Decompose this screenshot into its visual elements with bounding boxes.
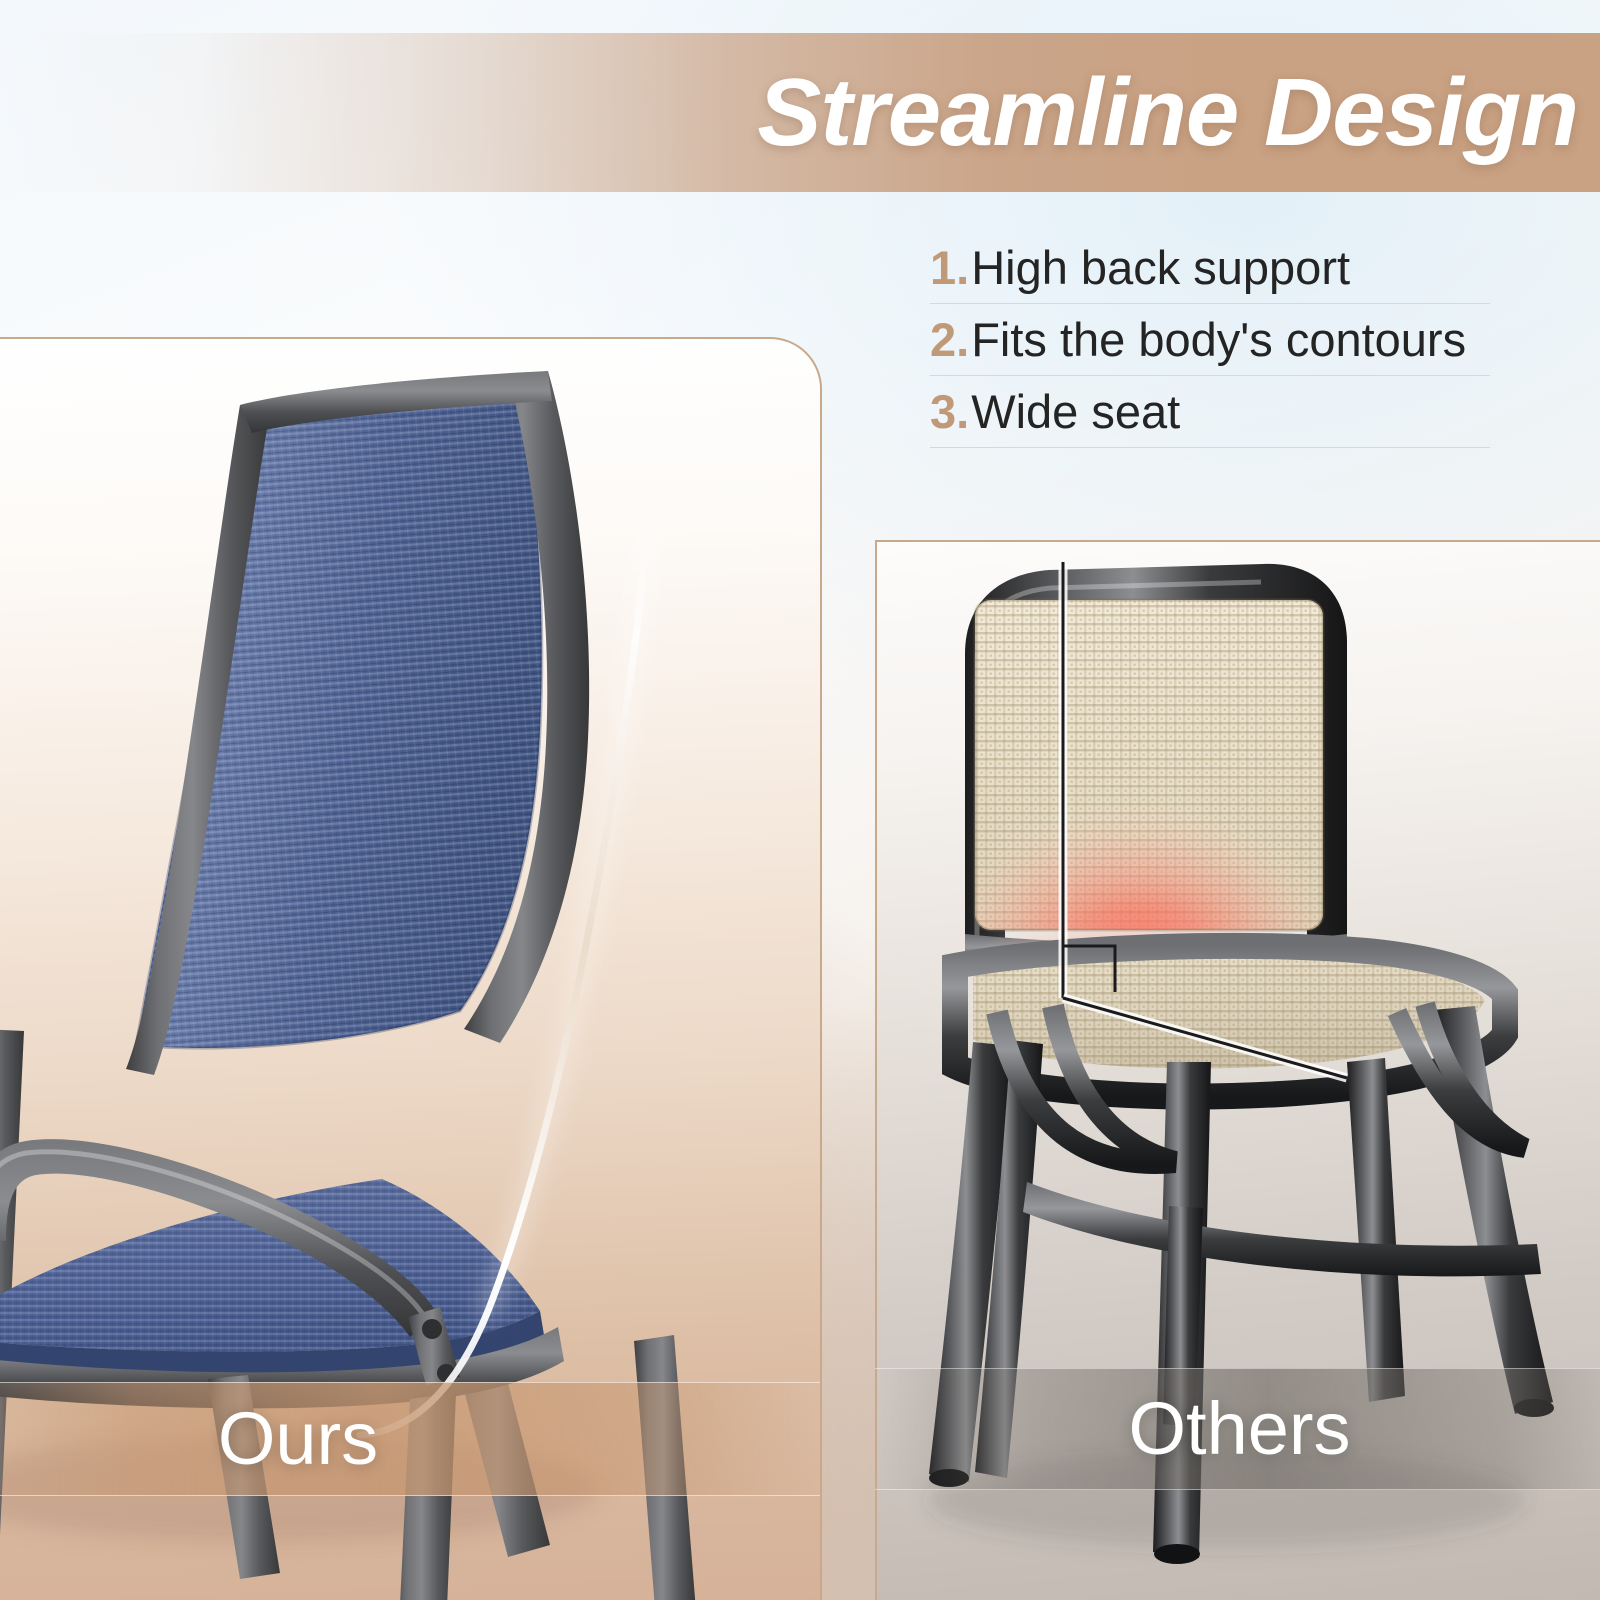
others-stretcher-horizontal [1023,1182,1541,1276]
label-band-others: Others [875,1368,1600,1490]
panel-label-others: Others [1128,1392,1350,1466]
label-band-ours: Ours [0,1382,820,1496]
page-title: Streamline Design [757,58,1578,168]
feature-item-1: 1. High back support [930,232,1490,304]
feature-text-3: Wide seat [971,388,1180,435]
feature-number-1: 1. [930,244,969,291]
feature-item-2: 2. Fits the body's contours [930,304,1490,376]
feature-item-3: 3. Wide seat [930,376,1490,448]
panel-label-ours: Ours [218,1402,378,1476]
feature-number-3: 3. [930,388,969,435]
feature-number-2: 2. [930,316,969,363]
feature-list: 1. High back support 2. Fits the body's … [930,232,1490,448]
feature-text-1: High back support [971,244,1350,291]
others-foot-center [1154,1544,1200,1564]
ours-bolt-a [422,1319,442,1339]
product-comparison-infographic: Ours [0,0,1600,1600]
feature-text-2: Fits the body's contours [971,316,1466,363]
title-banner: Streamline Design [0,33,1600,192]
others-leg-rear-right-inner [1347,1058,1405,1402]
